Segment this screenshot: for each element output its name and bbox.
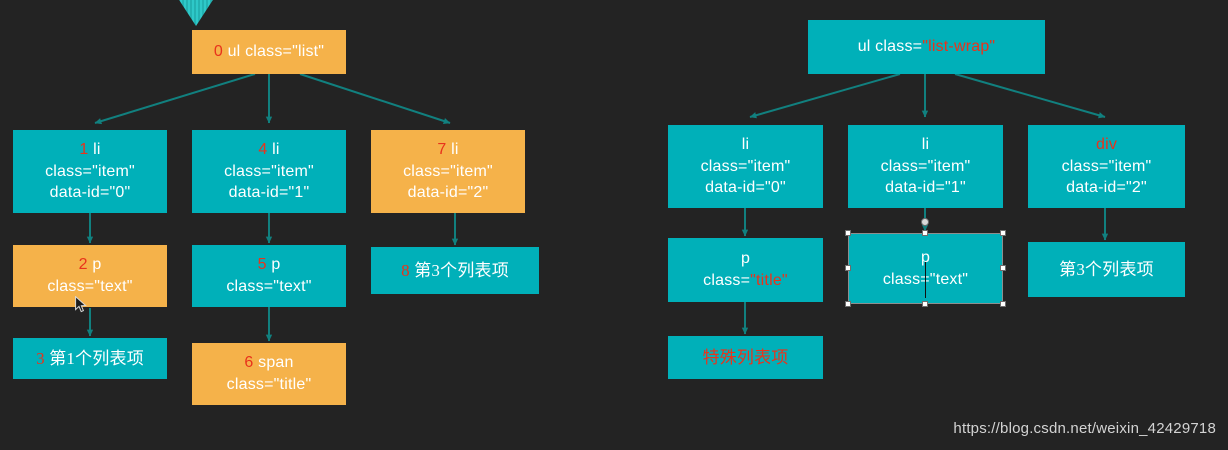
node-left-li-0-line3: data-id="0" (50, 182, 131, 204)
selection-handle-e[interactable] (1000, 265, 1006, 271)
node-left-span-1[interactable]: 6 span class="title" (192, 343, 346, 405)
node-left-root[interactable]: 0 ul class="list" (192, 30, 346, 74)
node-right-p-title[interactable]: p class="title" (668, 238, 823, 302)
node-index: 6 (244, 354, 253, 371)
node-right-li-0-line1: li (742, 134, 750, 156)
striped-chevron-decoration (148, 0, 244, 26)
node-right-text-2[interactable]: 第3个列表项 (1028, 242, 1185, 297)
node-left-li-1-line3: data-id="1" (229, 182, 310, 204)
selection-handle-w[interactable] (845, 265, 851, 271)
node-left-li-0[interactable]: 1 li class="item" data-id="0" (13, 130, 167, 213)
node-left-span-1-line1: 6 span (244, 352, 293, 374)
node-index: 5 (258, 256, 267, 273)
node-left-li-2-line1: 7 li (437, 139, 458, 161)
node-left-root-label: 0 ul class="list" (214, 41, 324, 63)
node-index: 8 (401, 261, 410, 280)
selection-handle-sw[interactable] (845, 301, 851, 307)
node-token: "title" (750, 272, 788, 289)
node-index: 4 (258, 141, 267, 158)
mouse-cursor-icon (75, 296, 87, 314)
node-right-special-text[interactable]: 特殊列表项 (668, 336, 823, 379)
node-text: li (93, 141, 101, 158)
rotate-handle[interactable] (921, 218, 929, 226)
node-index: 7 (437, 141, 446, 158)
node-index: 0 (214, 43, 223, 60)
node-left-li-1[interactable]: 4 li class="item" data-id="1" (192, 130, 346, 213)
selection-handle-s[interactable] (922, 301, 928, 307)
node-left-li-2[interactable]: 7 li class="item" data-id="2" (371, 130, 525, 213)
node-token: "list-wrap" (922, 38, 995, 55)
node-left-p-0-line1: 2 p (79, 254, 102, 276)
node-index: 1 (79, 141, 88, 158)
node-left-span-1-line2: class="title" (227, 374, 312, 396)
node-right-root-label: ul class="list-wrap" (858, 36, 996, 58)
node-left-p-1[interactable]: 5 p class="text" (192, 245, 346, 307)
node-left-text-2-line1: 8 第3个列表项 (401, 259, 509, 282)
node-right-div-2-tag: div (1096, 134, 1117, 156)
selection-handle-se[interactable] (1000, 301, 1006, 307)
node-text: class= (703, 272, 750, 289)
node-left-p-1-line1: 5 p (258, 254, 281, 276)
node-index: 2 (79, 256, 88, 273)
node-left-li-0-line2: class="item" (45, 161, 135, 183)
node-right-p-title-line1: p (741, 248, 750, 270)
node-right-li-1-line3: data-id="1" (885, 177, 966, 199)
node-right-div-2-line3: data-id="2" (1066, 177, 1147, 199)
node-left-text-2[interactable]: 8 第3个列表项 (371, 247, 539, 294)
node-text: ul class= (858, 38, 923, 55)
node-text: li (451, 141, 459, 158)
selection-handle-nw[interactable] (845, 230, 851, 236)
node-left-li-1-line1: 4 li (258, 139, 279, 161)
node-right-div-2-line2: class="item" (1062, 156, 1152, 178)
node-left-li-2-line2: class="item" (403, 161, 493, 183)
selection-handle-n[interactable] (922, 230, 928, 236)
diagram-canvas: 0 ul class="list" 1 li class="item" data… (0, 0, 1228, 450)
node-left-li-1-line2: class="item" (224, 161, 314, 183)
selection-handle-ne[interactable] (1000, 230, 1006, 236)
node-right-li-1-line2: class="item" (881, 156, 971, 178)
node-index: 3 (36, 349, 45, 368)
node-right-li-1-line1: li (922, 134, 930, 156)
node-right-li-0-line2: class="item" (701, 156, 791, 178)
node-text: 第3个列表项 (414, 261, 509, 280)
node-text: 第1个列表项 (49, 349, 144, 368)
node-text: span (258, 354, 294, 371)
node-left-p-1-line2: class="text" (226, 276, 311, 298)
node-left-li-0-line1: 1 li (79, 139, 100, 161)
node-left-li-2-line3: data-id="2" (408, 182, 489, 204)
node-left-p-0-line2: class="text" (47, 276, 132, 298)
node-right-li-1[interactable]: li class="item" data-id="1" (848, 125, 1003, 208)
node-right-div-2[interactable]: div class="item" data-id="2" (1028, 125, 1185, 208)
node-text: li (272, 141, 280, 158)
node-text: p (92, 256, 101, 273)
node-text: p (271, 256, 280, 273)
text-cursor-caret (925, 262, 926, 298)
node-right-li-0-line3: data-id="0" (705, 177, 786, 199)
node-left-p-0[interactable]: 2 p class="text" (13, 245, 167, 307)
node-right-p-title-line2: class="title" (703, 270, 788, 292)
node-right-root[interactable]: ul class="list-wrap" (808, 20, 1045, 74)
node-left-text-0-line1: 3 第1个列表项 (36, 347, 144, 370)
node-text: ul class="list" (228, 43, 325, 60)
node-right-text-2-line1: 第3个列表项 (1059, 258, 1154, 281)
watermark-url: https://blog.csdn.net/weixin_42429718 (953, 420, 1216, 437)
node-left-text-0[interactable]: 3 第1个列表项 (13, 338, 167, 379)
node-right-li-0[interactable]: li class="item" data-id="0" (668, 125, 823, 208)
node-right-special-text-line1: 特殊列表项 (703, 346, 789, 369)
